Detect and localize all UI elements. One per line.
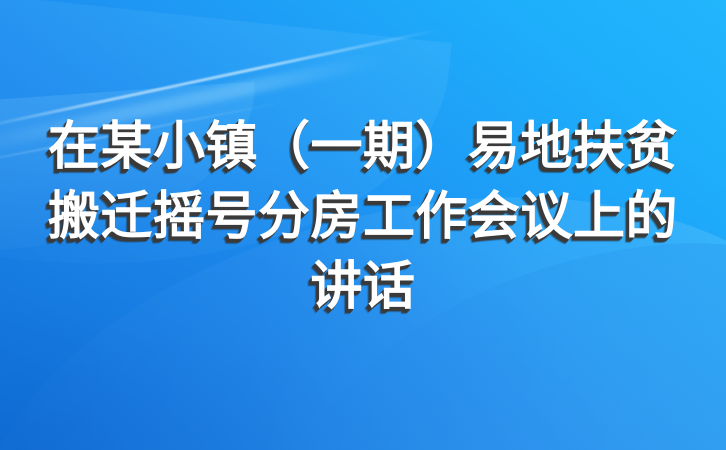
banner-title: 在某小镇（一期）易地扶贫 搬迁摇号分房工作会议上的 讲话 xyxy=(0,112,726,322)
title-line-1: 在某小镇（一期）易地扶贫 xyxy=(26,112,700,182)
title-line-2: 搬迁摇号分房工作会议上的 xyxy=(26,182,700,252)
title-cover-banner: 在某小镇（一期）易地扶贫 搬迁摇号分房工作会议上的 讲话 xyxy=(0,0,726,450)
title-line-3: 讲话 xyxy=(26,252,700,322)
